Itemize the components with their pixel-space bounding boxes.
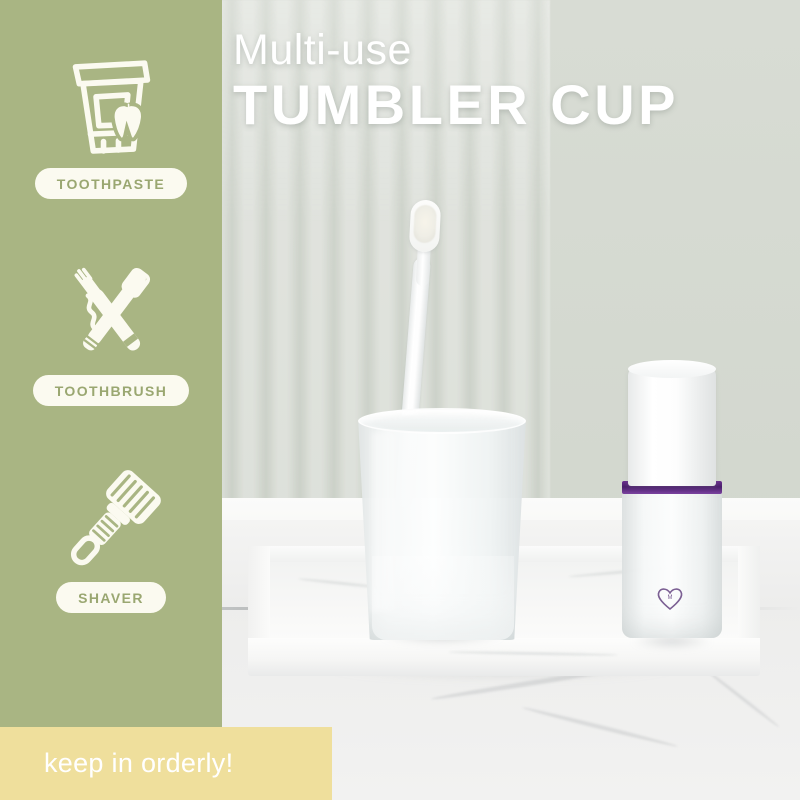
toothbrush-bristles <box>413 204 437 243</box>
tagline-banner: keep in orderly! <box>0 727 332 800</box>
bottle-cap <box>628 366 716 486</box>
page-title: TUMBLER CUP <box>233 75 793 135</box>
poster-canvas: M <box>0 0 800 800</box>
features-panel: TOOTHPASTE <box>0 0 222 730</box>
frosted-pump-bottle <box>622 490 722 638</box>
feature-shaver[interactable]: SHAVER <box>0 462 222 613</box>
feature-toothbrush[interactable]: TOOTHBRUSH <box>0 255 222 406</box>
feature-label-shaver: SHAVER <box>56 582 166 613</box>
bottle-cap-top <box>628 360 716 378</box>
toothpaste-tube-icon <box>0 48 222 168</box>
heart-icon: M <box>655 585 685 611</box>
tumbler-highlight <box>372 432 402 612</box>
razor-shaver-icon <box>0 462 222 582</box>
feature-label-toothbrush: TOOTHBRUSH <box>33 375 190 406</box>
svg-text:M: M <box>668 595 673 601</box>
tray-left-rim <box>248 546 270 646</box>
title-subtitle: Multi-use <box>233 28 793 73</box>
tagline-text: keep in orderly! <box>0 748 233 779</box>
crossed-toothbrushes-icon <box>0 255 222 375</box>
title-block: Multi-use TUMBLER CUP <box>233 28 793 136</box>
feature-label-toothpaste: TOOTHPASTE <box>35 168 187 199</box>
tray-right-rim <box>738 546 760 646</box>
tumbler-rim <box>358 408 526 434</box>
feature-toothpaste[interactable]: TOOTHPASTE <box>0 48 222 199</box>
